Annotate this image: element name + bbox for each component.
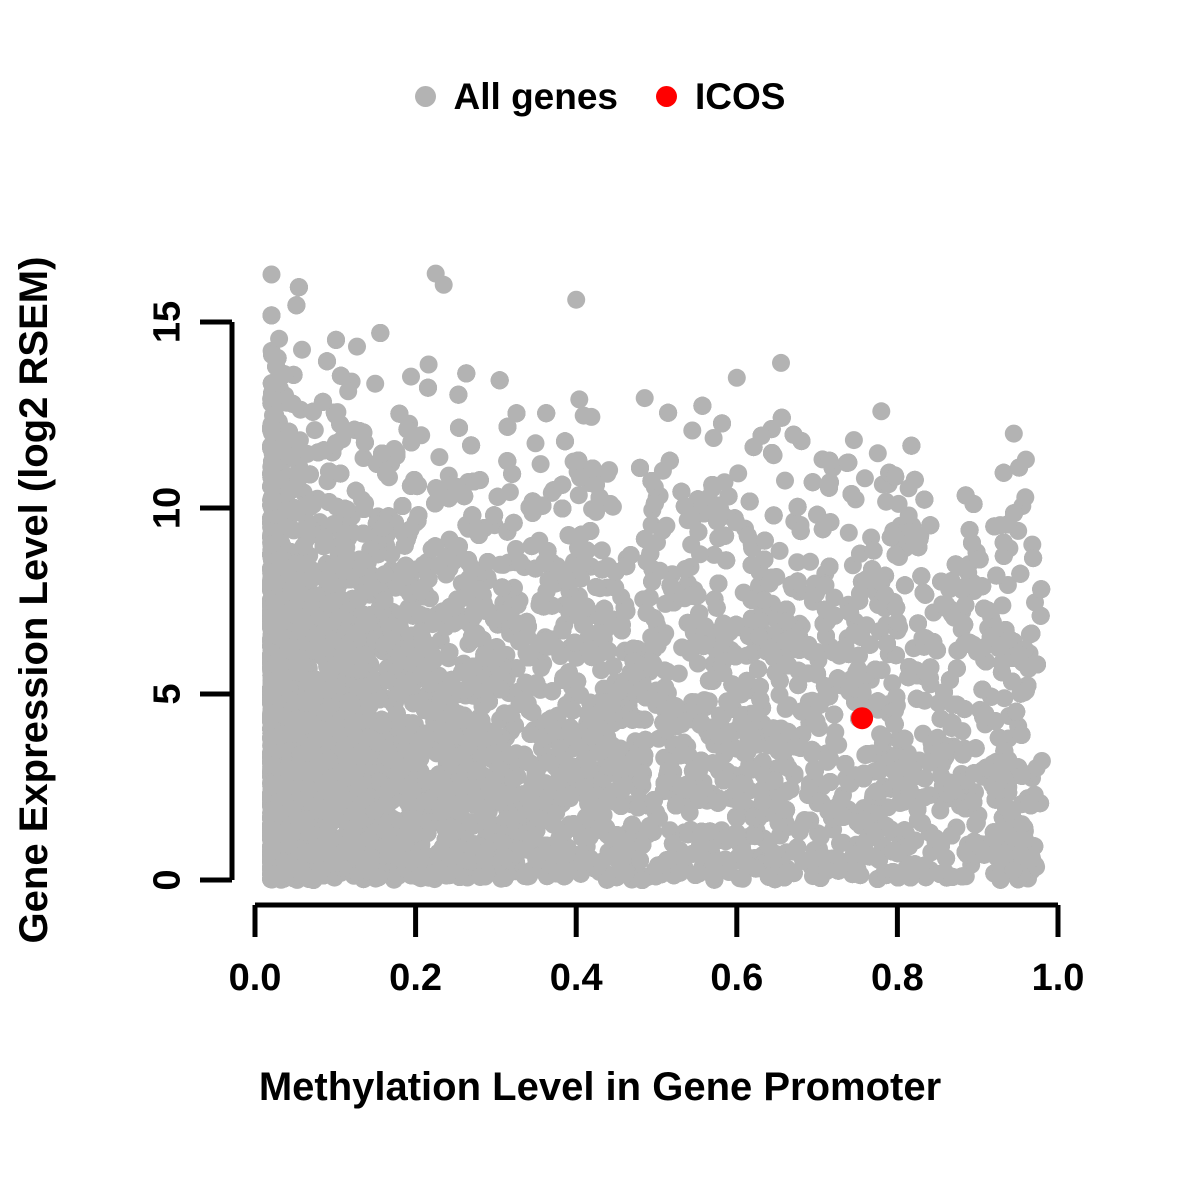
x-axis-title: Methylation Level in Gene Promoter <box>0 1065 1200 1110</box>
y-tick-label: 15 <box>147 301 190 343</box>
y-tick-label: 0 <box>147 869 190 890</box>
x-tick-label: 0.8 <box>871 957 924 1000</box>
x-tick-label: 0.4 <box>550 957 603 1000</box>
x-tick-label: 1.0 <box>1032 957 1085 1000</box>
y-tick-label: 10 <box>147 487 190 529</box>
plot-canvas <box>0 0 1200 1200</box>
y-axis-title: Gene Expression Level (log2 RSEM) <box>0 0 68 1200</box>
y-tick-label: 5 <box>147 683 190 704</box>
x-tick-label: 0.6 <box>710 957 763 1000</box>
scatter-plot-figure: All genes ICOS 0.00.20.40.60.81.0 051015… <box>0 0 1200 1200</box>
x-tick-label: 0.2 <box>389 957 442 1000</box>
x-tick-label: 0.0 <box>229 957 282 1000</box>
